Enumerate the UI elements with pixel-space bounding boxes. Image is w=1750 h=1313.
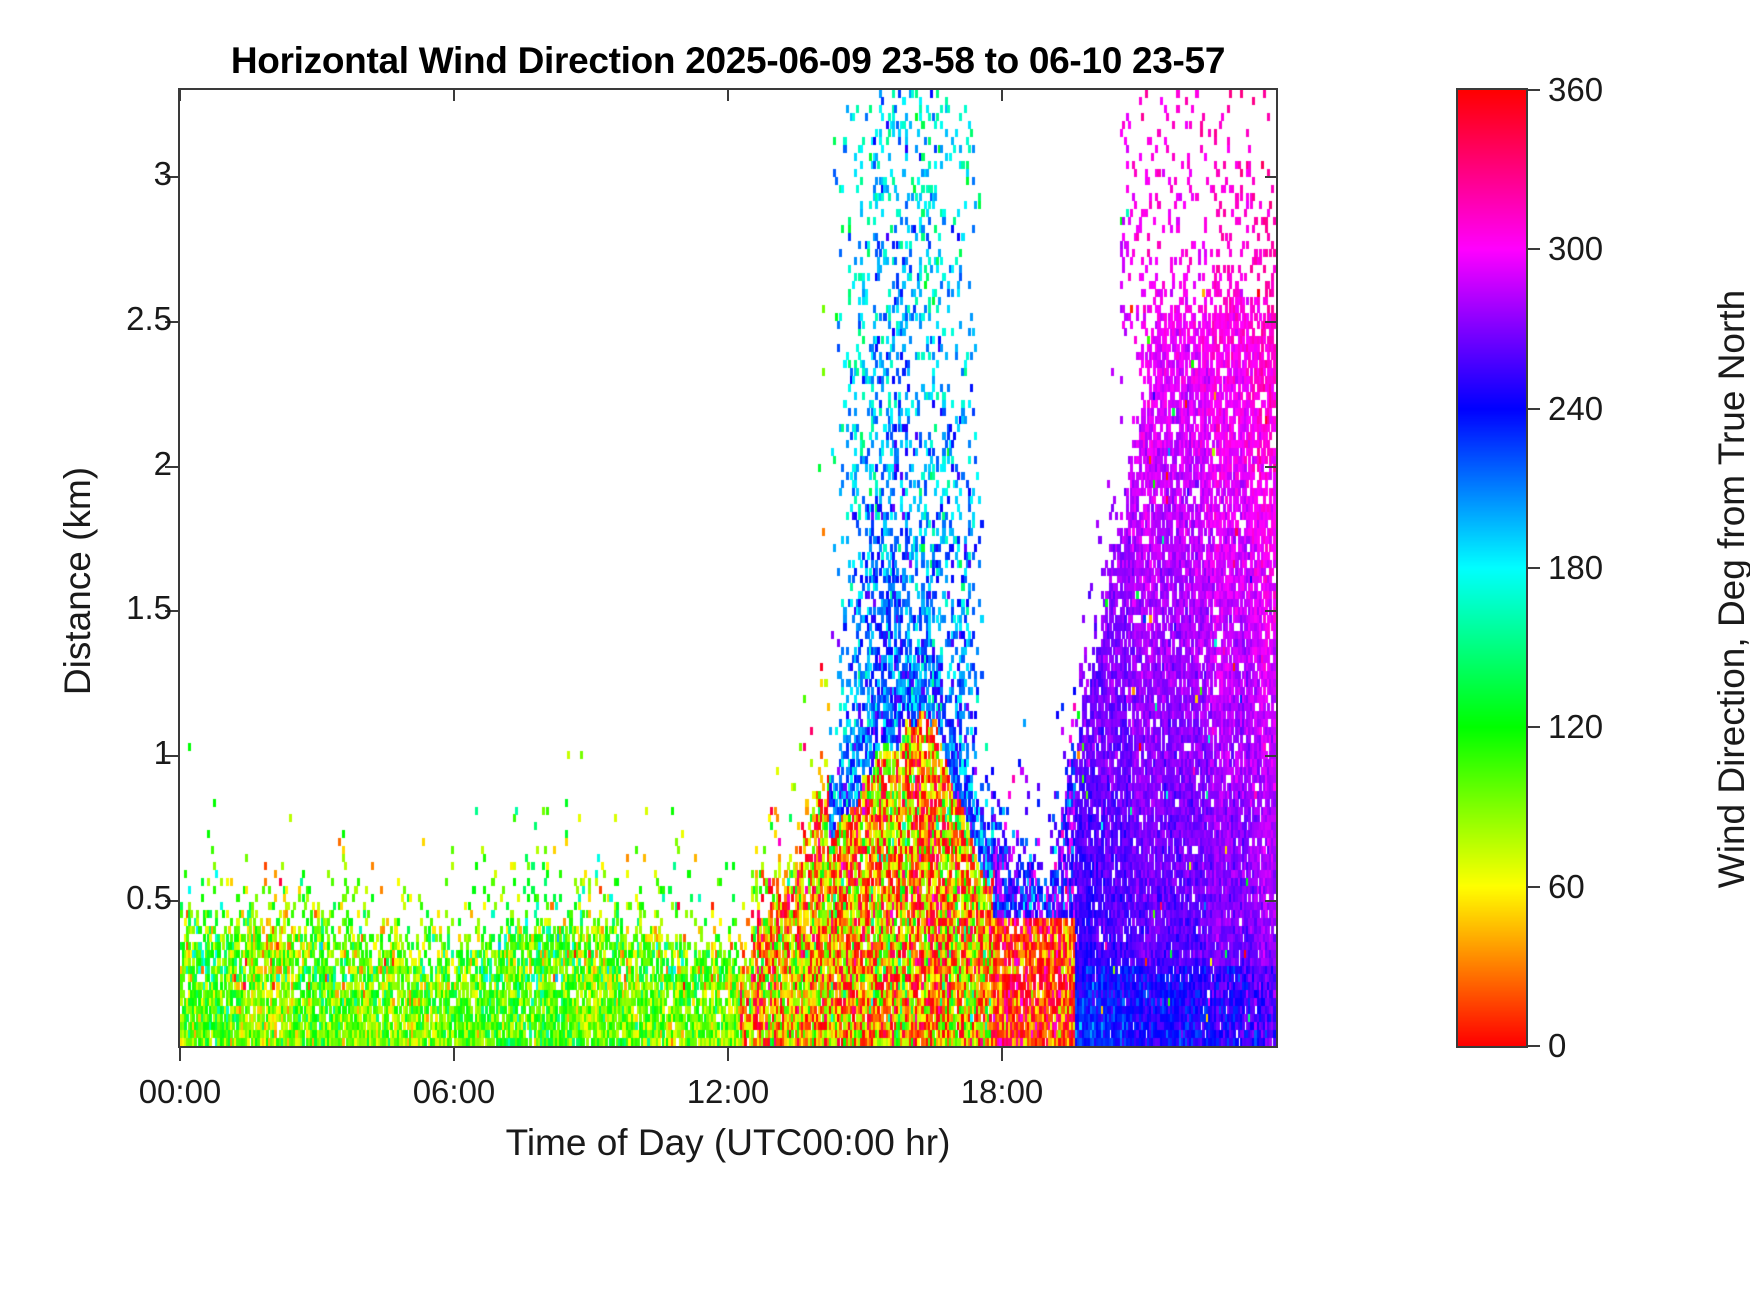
- x-tick-label: 12:00: [687, 1073, 770, 1111]
- colorbar: [1456, 88, 1528, 1048]
- y-tick-mark-right: [1265, 610, 1278, 612]
- colorbar-tick-label: 360: [1548, 71, 1603, 109]
- colorbar-tick-mark: [1528, 567, 1540, 569]
- y-tick-mark-right: [1265, 755, 1278, 757]
- x-tick-mark-top: [727, 88, 729, 101]
- x-axis-label: Time of Day (UTC00:00 hr): [178, 1122, 1278, 1164]
- y-tick-label: 2: [154, 445, 172, 483]
- heatmap-plot-area: [180, 90, 1276, 1046]
- x-tick-label: 06:00: [413, 1073, 496, 1111]
- x-tick-mark: [727, 1048, 729, 1061]
- x-tick-label: 00:00: [139, 1073, 222, 1111]
- colorbar-tick-mark: [1528, 248, 1540, 250]
- colorbar-gradient: [1458, 90, 1526, 1046]
- x-tick-mark: [453, 1048, 455, 1061]
- colorbar-label: Wind Direction, Deg from True North: [1711, 239, 1750, 939]
- colorbar-tick-label: 0: [1548, 1027, 1566, 1065]
- colorbar-tick-label: 120: [1548, 708, 1603, 746]
- colorbar-tick-label: 240: [1548, 390, 1603, 428]
- colorbar-tick-label: 180: [1548, 549, 1603, 587]
- y-tick-mark-right: [1265, 900, 1278, 902]
- y-tick-label: 1: [154, 734, 172, 772]
- colorbar-tick-mark: [1528, 89, 1540, 91]
- y-tick-label: 0.5: [126, 879, 172, 917]
- colorbar-tick-label: 60: [1548, 868, 1585, 906]
- colorbar-tick-mark: [1528, 1045, 1540, 1047]
- x-tick-mark: [1001, 1048, 1003, 1061]
- y-axis-label: Distance (km): [57, 271, 99, 891]
- y-tick-label: 3: [154, 155, 172, 193]
- figure-canvas: Horizontal Wind Direction 2025-06-09 23-…: [0, 0, 1750, 1313]
- x-tick-mark-top: [453, 88, 455, 101]
- x-tick-label: 18:00: [961, 1073, 1044, 1111]
- y-tick-label: 2.5: [126, 300, 172, 338]
- colorbar-tick-mark: [1528, 886, 1540, 888]
- colorbar-tick-mark: [1528, 726, 1540, 728]
- colorbar-tick-label: 300: [1548, 230, 1603, 268]
- x-tick-mark-top: [179, 88, 181, 101]
- heatmap-axes: [178, 88, 1278, 1048]
- colorbar-tick-mark: [1528, 408, 1540, 410]
- y-tick-mark-right: [1265, 466, 1278, 468]
- x-tick-mark: [179, 1048, 181, 1061]
- y-tick-mark-right: [1265, 321, 1278, 323]
- page-title: Horizontal Wind Direction 2025-06-09 23-…: [178, 40, 1278, 82]
- y-tick-label: 1.5: [126, 589, 172, 627]
- x-tick-mark-top: [1001, 88, 1003, 101]
- y-tick-mark-right: [1265, 176, 1278, 178]
